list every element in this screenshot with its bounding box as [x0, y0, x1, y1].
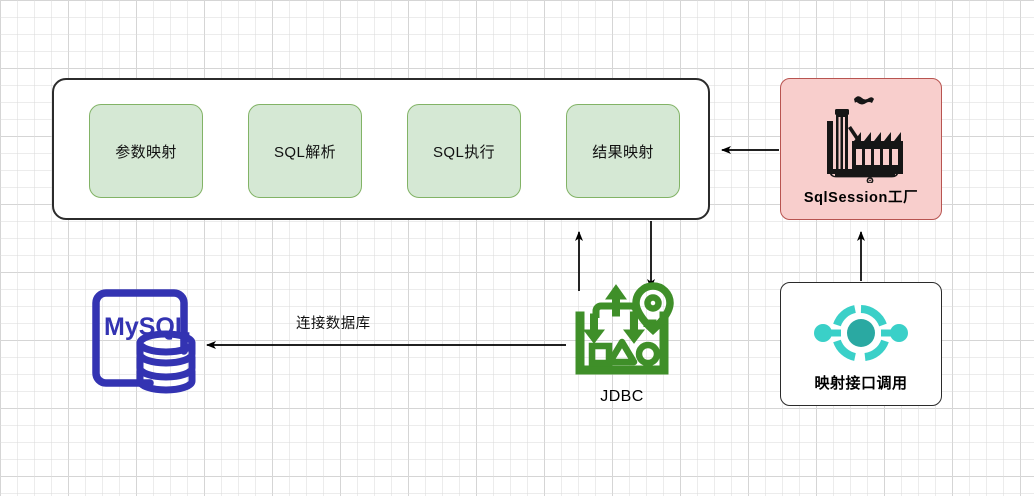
mysql-database-icon: MySQL	[88, 285, 206, 397]
sqlsession-factory-label: SqlSession工厂	[781, 186, 941, 207]
jdbc-node[interactable]: JDBC	[568, 278, 676, 406]
stage-label: 参数映射	[115, 141, 177, 162]
api-hub-icon-wrapper	[781, 303, 941, 363]
edge-label-connect-db: 连接数据库	[296, 312, 371, 333]
factory-icon	[808, 91, 914, 183]
stage-result-mapping[interactable]: 结果映射	[566, 104, 680, 198]
api-hub-icon	[807, 303, 915, 363]
mapper-invoke-node[interactable]: 映射接口调用	[780, 282, 942, 406]
sqlsession-factory-node[interactable]: SqlSession工厂	[780, 78, 942, 220]
diagram-canvas: 连接数据库 参数映射 SQL解析 SQL执行 结果映射	[0, 0, 1034, 496]
mysql-node[interactable]: MySQL	[88, 285, 206, 397]
edges-layer	[0, 0, 1034, 496]
jdbc-label: JDBC	[568, 388, 676, 406]
pipeline-container[interactable]: 参数映射 SQL解析 SQL执行 结果映射	[52, 78, 710, 220]
stage-label: SQL解析	[274, 141, 336, 162]
stage-label: 结果映射	[592, 141, 654, 162]
jdbc-icon	[568, 278, 676, 384]
stage-param-mapping[interactable]: 参数映射	[89, 104, 203, 198]
stage-label: SQL执行	[433, 141, 495, 162]
stage-sql-parse[interactable]: SQL解析	[248, 104, 362, 198]
stage-sql-execute[interactable]: SQL执行	[407, 104, 521, 198]
factory-icon-wrapper	[781, 91, 941, 183]
mapper-invoke-label: 映射接口调用	[781, 372, 941, 393]
